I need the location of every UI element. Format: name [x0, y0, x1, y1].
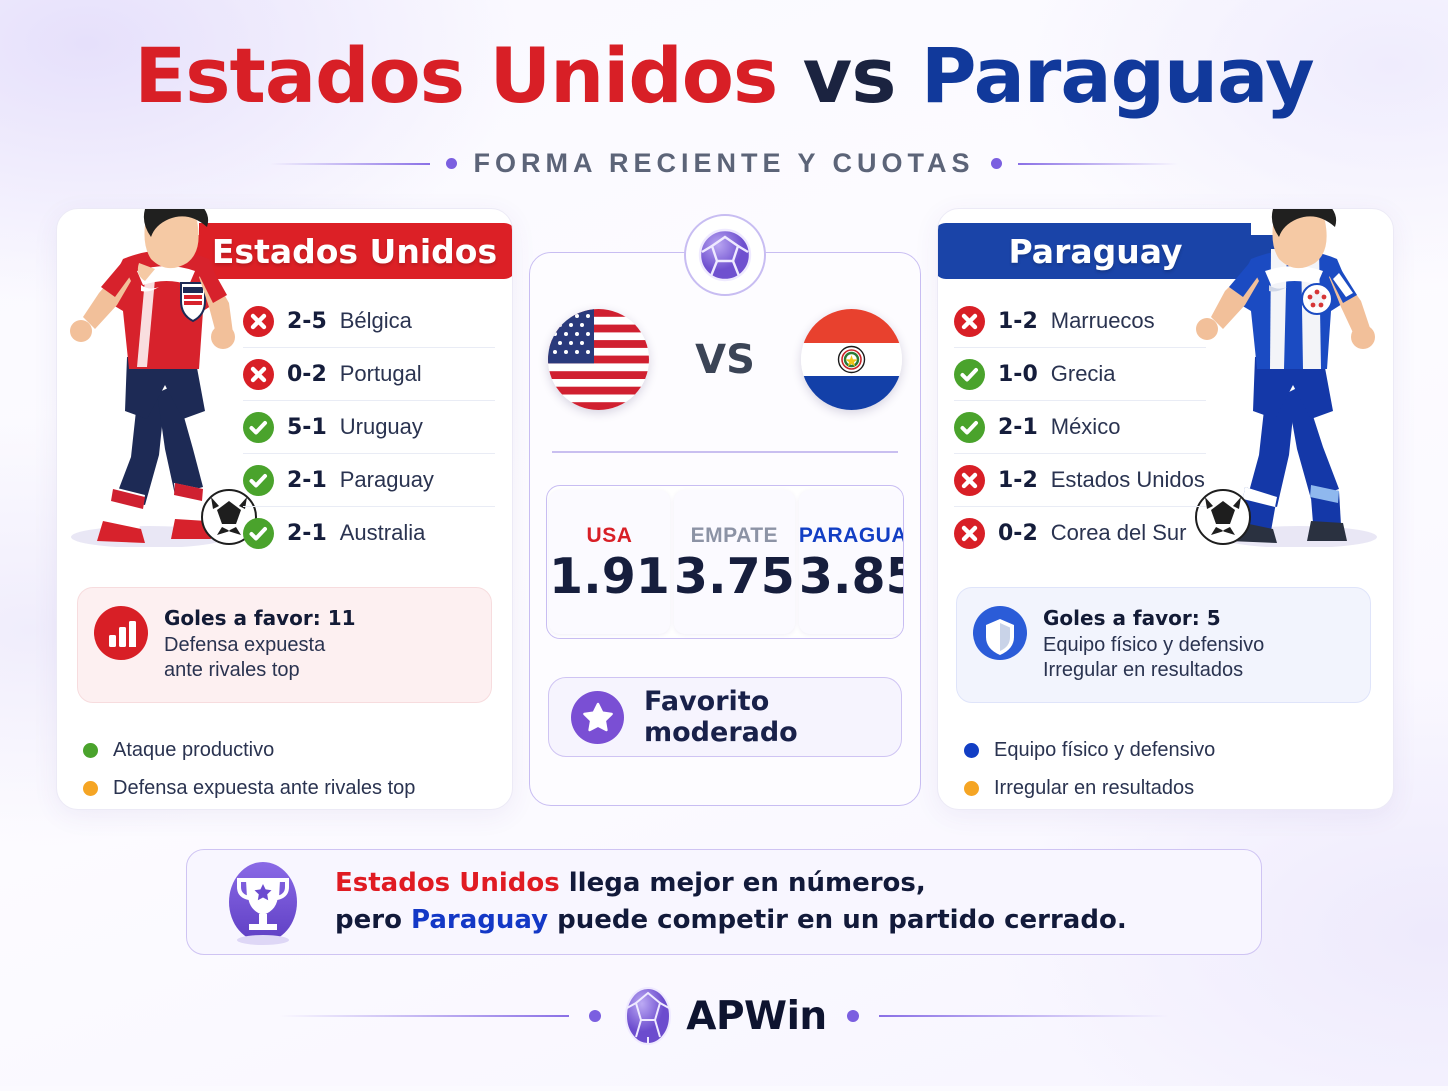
result-opponent: Estados Unidos [1051, 467, 1205, 493]
home-tag-list: Ataque productivoDefensa expuesta ante r… [83, 731, 415, 807]
tag-label: Irregular en resultados [994, 777, 1194, 800]
home-stat-card: Goles a favor: 11 Defensa expuesta ante … [77, 587, 492, 703]
result-opponent: México [1051, 414, 1121, 440]
check-icon [243, 465, 274, 496]
footer-dot-left [589, 1010, 601, 1022]
odds-cell-usa[interactable]: USA1.91 [549, 490, 670, 634]
odds-label: USA [587, 524, 633, 548]
away-results-list: 1-2Marruecos1-0Grecia2-1México1-2Estados… [954, 295, 1206, 559]
footer-line-right [879, 1015, 1169, 1017]
subtitle-dot-right [991, 158, 1002, 169]
ball-logo-icon [621, 985, 675, 1047]
result-row: 2-1Paraguay [243, 454, 495, 507]
odds-cell-draw[interactable]: EMPATE3.75 [674, 490, 795, 634]
result-row: 5-1Uruguay [243, 401, 495, 454]
soccer-ball-icon [696, 226, 754, 284]
usa-flag-icon [548, 309, 649, 410]
cross-icon [243, 306, 274, 337]
favorite-badge[interactable]: Favorito moderado [548, 677, 902, 757]
subtitle-row: FORMA RECIENTE Y CUOTAS [0, 148, 1448, 179]
flags-row: VS [530, 309, 920, 410]
conclusion-banner: Estados Unidos llega mejor en números, p… [186, 849, 1262, 955]
result-row: 2-1Australia [243, 507, 495, 559]
result-row: 2-5Bélgica [243, 295, 495, 348]
cross-icon [243, 359, 274, 390]
away-team-name: Paraguay [1009, 232, 1183, 271]
subtitle-dot-left [446, 158, 457, 169]
check-icon [954, 412, 985, 443]
favorite-label: Favorito moderado [644, 686, 901, 748]
subtitle-line-left [270, 163, 430, 165]
odds-value: 1.91 [549, 552, 670, 601]
away-tag-list: Equipo físico y defensivoIrregular en re… [964, 731, 1215, 807]
title-vs: vs [803, 31, 896, 120]
tag-dot-icon [964, 743, 979, 758]
cross-icon [954, 306, 985, 337]
home-stat-title: Goles a favor: 11 [164, 606, 356, 630]
result-opponent: Marruecos [1051, 308, 1155, 334]
title-away-team: Paraguay [921, 31, 1314, 120]
check-icon [243, 412, 274, 443]
odds-cell-pry[interactable]: PARAGUAY3.85 [799, 490, 904, 634]
cross-icon [954, 465, 985, 496]
conclusion-line2-pre: pero [335, 905, 411, 935]
conclusion-line2-rest: puede competir en un partido cerrado. [548, 905, 1127, 935]
center-ball-badge [684, 214, 766, 296]
tag-item: Ataque productivo [83, 731, 415, 769]
cross-icon [954, 518, 985, 549]
result-row: 1-2Marruecos [954, 295, 1206, 348]
result-opponent: Uruguay [340, 414, 423, 440]
away-stat-card: Goles a favor: 5 Equipo físico y defensi… [956, 587, 1371, 703]
conclusion-away-strong: Paraguay [411, 905, 548, 935]
result-score: 2-1 [287, 468, 327, 493]
conclusion-home-strong: Estados Unidos [335, 868, 560, 898]
page-title: Estados Unidos vs Paraguay [0, 38, 1448, 114]
title-home-team: Estados Unidos [134, 31, 777, 120]
result-score: 2-1 [998, 415, 1038, 440]
away-stat-line2: Irregular en resultados [1043, 659, 1243, 681]
result-opponent: Australia [340, 520, 426, 546]
odds-table: USA1.91EMPATE3.75PARAGUAY3.85 [546, 485, 904, 639]
center-divider [552, 451, 898, 453]
away-stat-title: Goles a favor: 5 [1043, 606, 1221, 630]
result-score: 5-1 [287, 415, 327, 440]
home-stat-line2: ante rivales top [164, 659, 300, 681]
result-score: 1-2 [998, 309, 1038, 334]
result-opponent: Bélgica [340, 308, 412, 334]
tag-dot-icon [964, 781, 979, 796]
match-center-panel: VS USA1.91EMPATE3.75PARAGUAY3.85 Favorit… [529, 252, 921, 806]
odds-label: EMPATE [691, 524, 778, 548]
odds-value: 3.85 [799, 552, 904, 601]
tag-dot-icon [83, 781, 98, 796]
result-score: 2-5 [287, 309, 327, 334]
away-stat-text: Goles a favor: 5 Equipo físico y defensi… [1043, 606, 1264, 684]
check-icon [243, 518, 274, 549]
star-icon [571, 691, 624, 744]
result-row: 1-2Estados Unidos [954, 454, 1206, 507]
result-opponent: Corea del Sur [1051, 520, 1187, 546]
paraguay-flag-icon [801, 309, 902, 410]
result-opponent: Portugal [340, 361, 422, 387]
result-score: 2-1 [287, 521, 327, 546]
result-row: 0-2Corea del Sur [954, 507, 1206, 559]
vs-label: VS [695, 337, 755, 383]
odds-value: 3.75 [674, 552, 795, 601]
result-opponent: Paraguay [340, 467, 434, 493]
trophy-icon [217, 856, 309, 948]
result-score: 0-2 [998, 521, 1038, 546]
home-results-list: 2-5Bélgica0-2Portugal5-1Uruguay2-1Paragu… [243, 295, 495, 559]
brand-name: APWin [686, 994, 826, 1039]
tag-item: Defensa expuesta ante rivales top [83, 769, 415, 807]
tag-dot-icon [83, 743, 98, 758]
odds-label: PARAGUAY [799, 524, 904, 548]
result-score: 0-2 [287, 362, 327, 387]
home-team-panel: Estados Unidos [56, 208, 513, 810]
tag-label: Defensa expuesta ante rivales top [113, 777, 415, 800]
tag-item: Irregular en resultados [964, 769, 1215, 807]
tag-item: Equipo físico y defensivo [964, 731, 1215, 769]
bar-chart-icon [94, 606, 148, 660]
result-score: 1-0 [998, 362, 1038, 387]
conclusion-text: Estados Unidos llega mejor en números, p… [335, 865, 1127, 939]
home-stat-text: Goles a favor: 11 Defensa expuesta ante … [164, 606, 356, 684]
result-opponent: Grecia [1051, 361, 1116, 387]
footer-dot-right [847, 1010, 859, 1022]
tag-label: Equipo físico y defensivo [994, 739, 1215, 762]
result-row: 1-0Grecia [954, 348, 1206, 401]
result-row: 0-2Portugal [243, 348, 495, 401]
subtitle: FORMA RECIENTE Y CUOTAS [473, 148, 974, 179]
away-team-panel: Paraguay 1- [937, 208, 1394, 810]
footer-line-left [279, 1015, 569, 1017]
footer: APWin [0, 985, 1448, 1047]
result-score: 1-2 [998, 468, 1038, 493]
shield-icon [973, 606, 1027, 660]
subtitle-line-right [1018, 163, 1178, 165]
conclusion-line1-rest: llega mejor en números, [560, 868, 926, 898]
check-icon [954, 359, 985, 390]
away-stat-line1: Equipo físico y defensivo [1043, 634, 1264, 656]
brand-logo[interactable]: APWin [621, 985, 826, 1047]
home-stat-line1: Defensa expuesta [164, 634, 325, 656]
tag-label: Ataque productivo [113, 739, 274, 762]
result-row: 2-1México [954, 401, 1206, 454]
